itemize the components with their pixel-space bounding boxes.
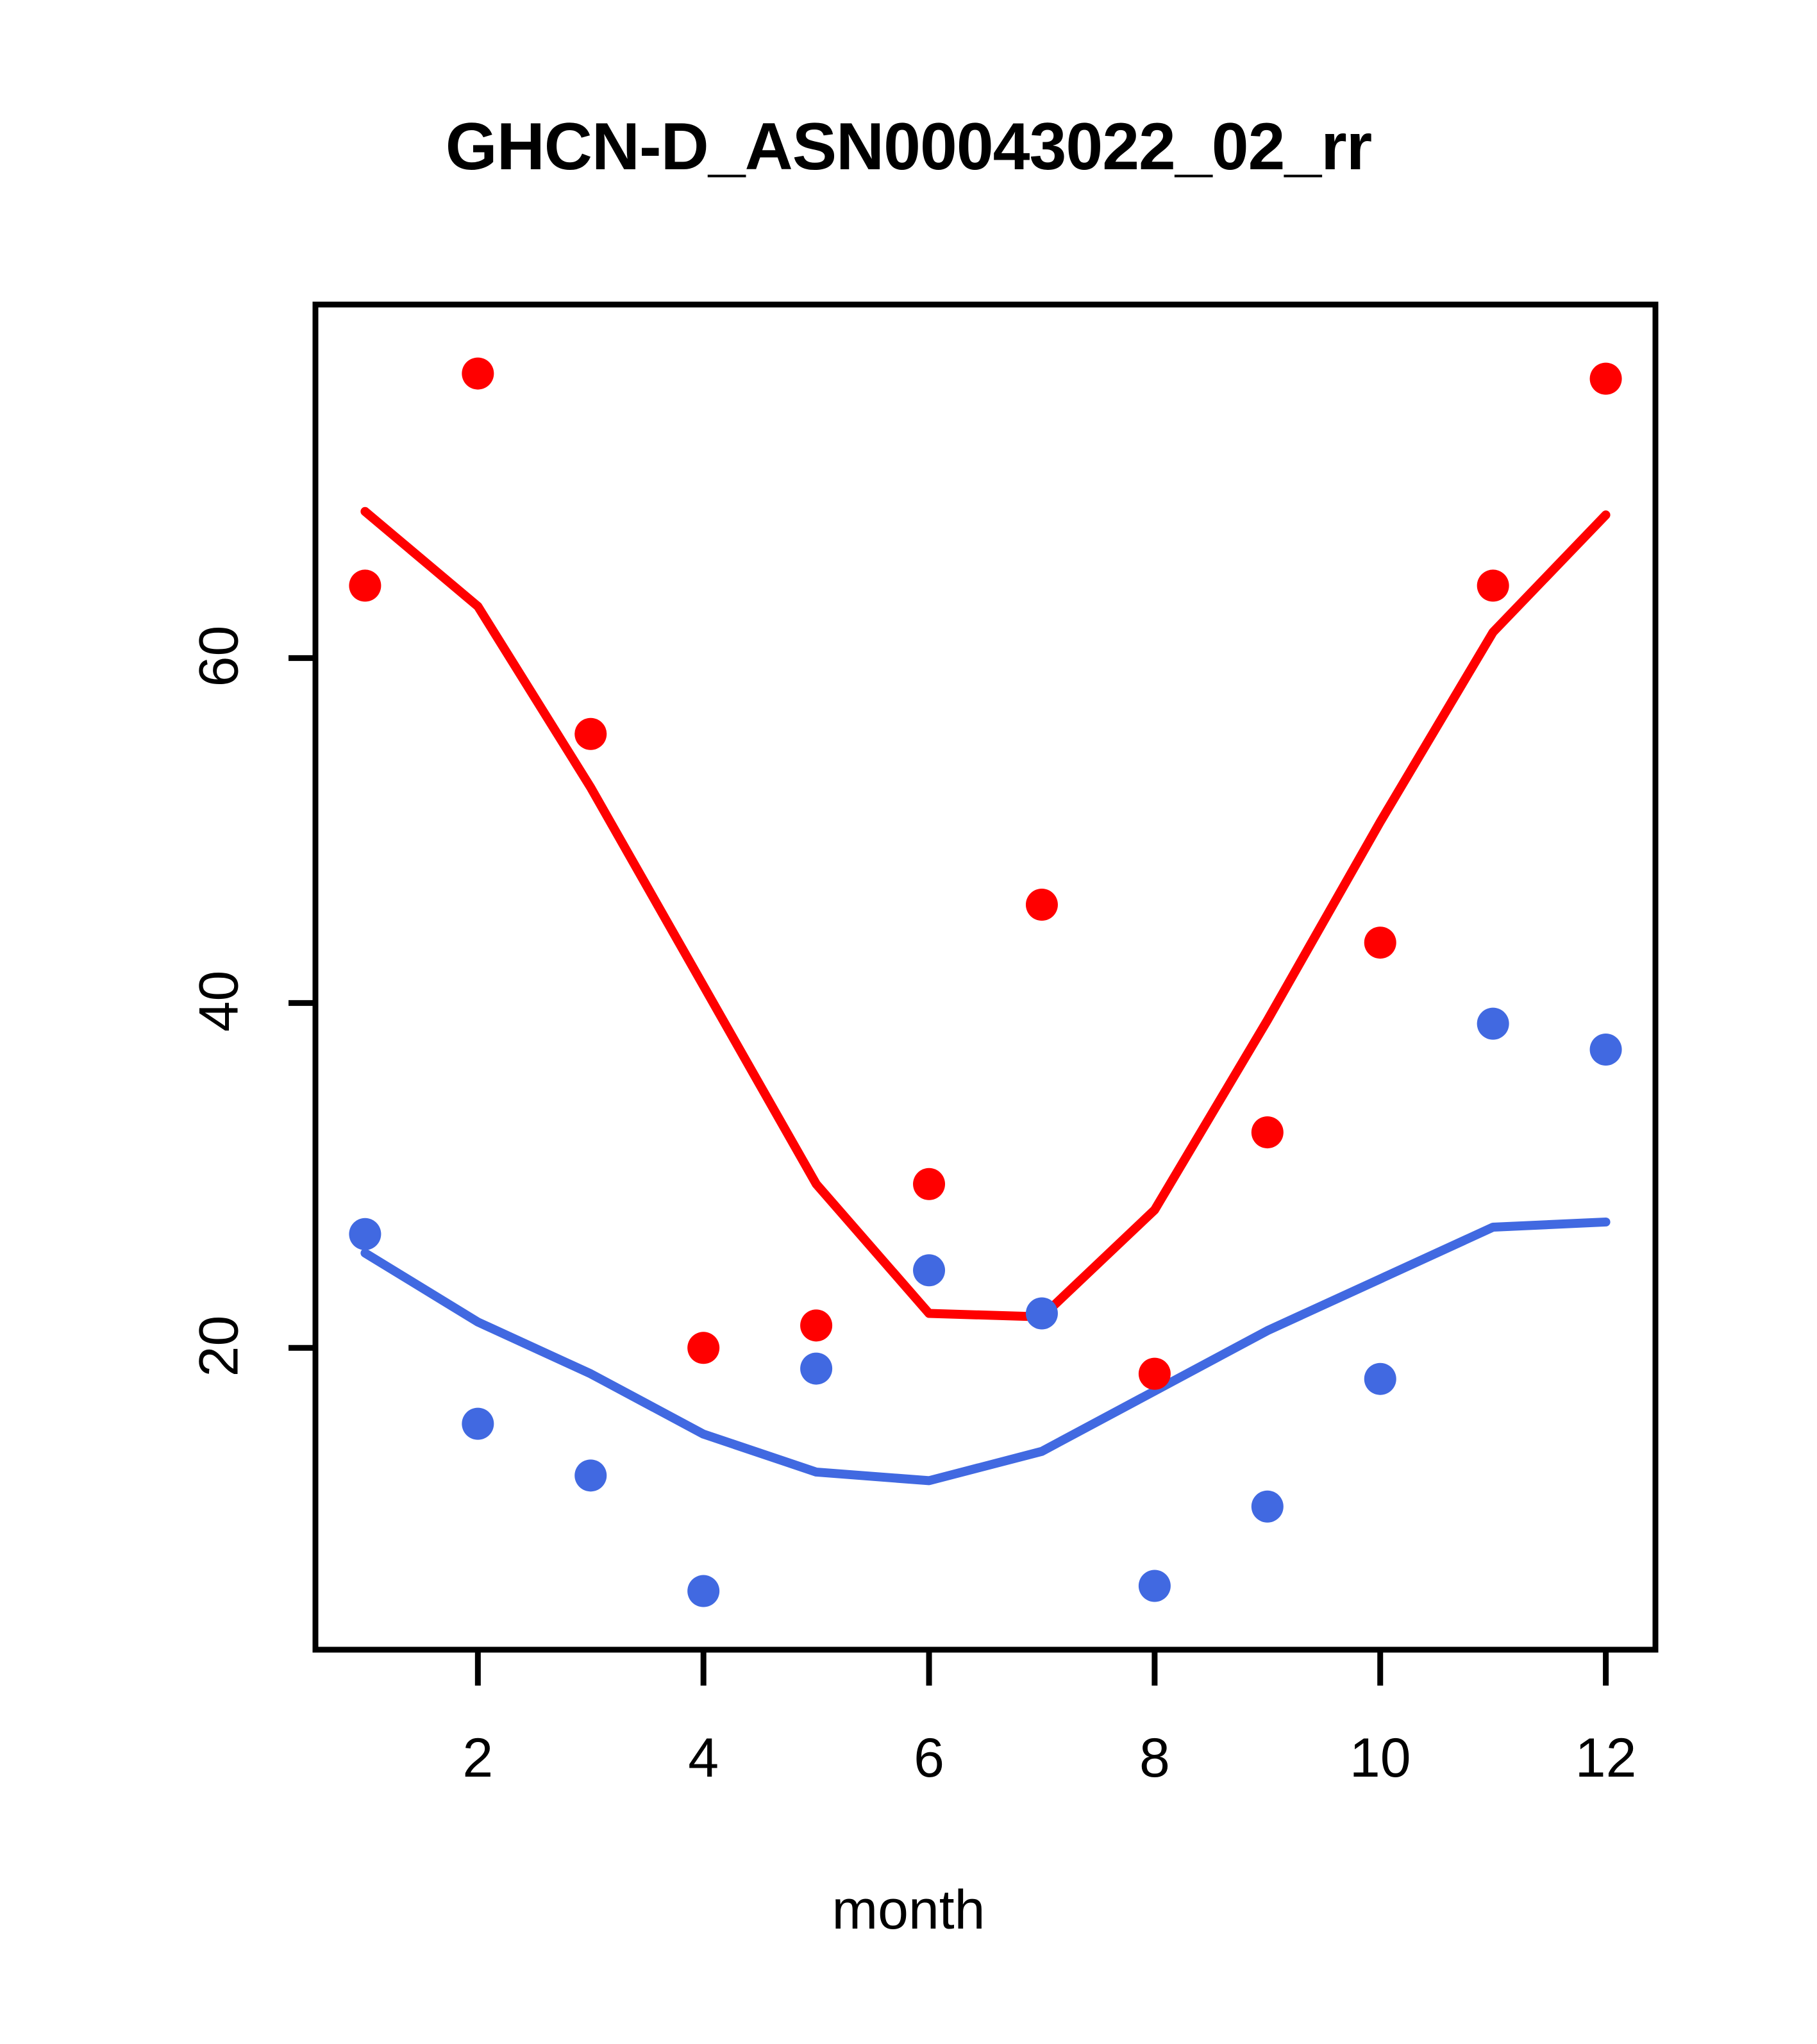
- x-tick-label: 10: [1303, 1727, 1457, 1790]
- x-tick-label: 2: [401, 1727, 555, 1790]
- y-tick-label: 40: [188, 950, 251, 1053]
- plot-frame: [315, 305, 1655, 1650]
- red-points-marker: [1026, 889, 1058, 921]
- y-tick-label: 60: [188, 605, 251, 708]
- x-tick-label: 12: [1529, 1727, 1683, 1790]
- x-tick-label: 6: [852, 1727, 1006, 1790]
- red-points-marker: [1590, 363, 1622, 395]
- red-points-marker: [913, 1168, 945, 1200]
- blue-points-marker: [349, 1218, 381, 1250]
- red-points-marker: [800, 1309, 832, 1341]
- blue-line: [365, 1222, 1605, 1480]
- red-points-marker: [462, 358, 494, 390]
- blue-points-marker: [687, 1575, 719, 1607]
- blue-points-marker: [913, 1254, 945, 1286]
- blue-points-marker: [800, 1353, 832, 1385]
- series-lines: [365, 512, 1605, 1481]
- chart-canvas: GHCN-D_ASN00043022_02_rr 20406024681012 …: [0, 0, 1817, 2044]
- red-points-marker: [1477, 569, 1509, 601]
- series-points: [349, 358, 1621, 1607]
- x-tick-label: 4: [626, 1727, 780, 1790]
- blue-points-marker: [462, 1408, 494, 1440]
- x-tick-label: 8: [1078, 1727, 1232, 1790]
- red-points-marker: [1364, 926, 1396, 959]
- y-axis-ticks: [289, 658, 315, 1348]
- blue-points-marker: [1477, 1008, 1509, 1040]
- red-points-marker: [1139, 1358, 1171, 1390]
- x-axis-title: month: [0, 1879, 1817, 1942]
- x-axis-ticks: [478, 1650, 1605, 1686]
- y-tick-label: 20: [188, 1295, 251, 1398]
- red-points-marker: [1252, 1116, 1284, 1148]
- red-points-marker: [349, 569, 381, 601]
- blue-points-marker: [1364, 1363, 1396, 1395]
- red-points-marker: [687, 1332, 719, 1364]
- blue-points-marker: [1026, 1298, 1058, 1330]
- blue-points-marker: [1252, 1491, 1284, 1523]
- blue-points-marker: [1139, 1570, 1171, 1602]
- blue-points-marker: [1590, 1034, 1622, 1066]
- red-points-marker: [574, 718, 607, 750]
- blue-points-marker: [574, 1459, 607, 1491]
- red-line: [365, 512, 1605, 1317]
